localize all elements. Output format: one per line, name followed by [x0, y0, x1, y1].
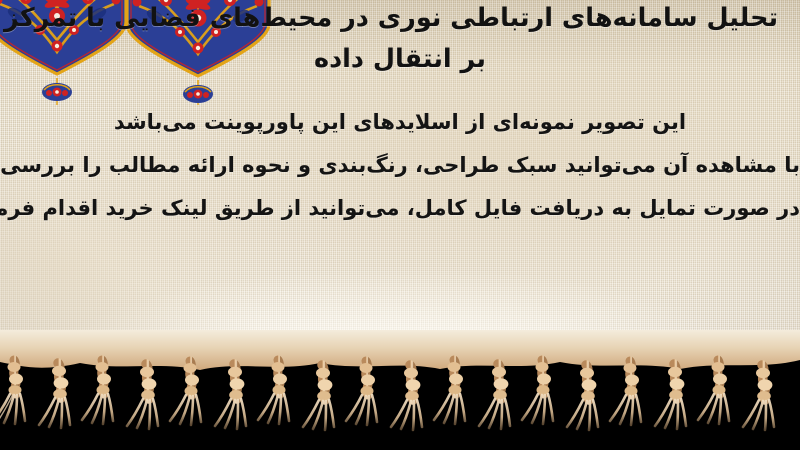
carpet-fringe — [0, 330, 800, 450]
fringe-tassels-icon — [0, 330, 800, 450]
slide-body-line-2: با مشاهده آن می‌توانید سبک طراحی، رنگ‌بن… — [0, 155, 800, 176]
slide-text-layer: تحلیل سامانه‌های ارتباطی نوری در محیط‌ها… — [0, 0, 800, 372]
slide-body-line-3: در صورت تمایل به دریافت فایل کامل، می‌تو… — [0, 198, 800, 219]
slide-body-line-1: این تصویر نمونه‌ای از اسلایدهای این پاور… — [0, 112, 800, 133]
slide-canvas: تحلیل سامانه‌های ارتباطی نوری در محیط‌ها… — [0, 0, 800, 450]
slide-title-line-1: تحلیل سامانه‌های ارتباطی نوری در محیط‌ها… — [0, 6, 800, 32]
slide-title-line-2: بر انتقال داده — [0, 47, 800, 73]
